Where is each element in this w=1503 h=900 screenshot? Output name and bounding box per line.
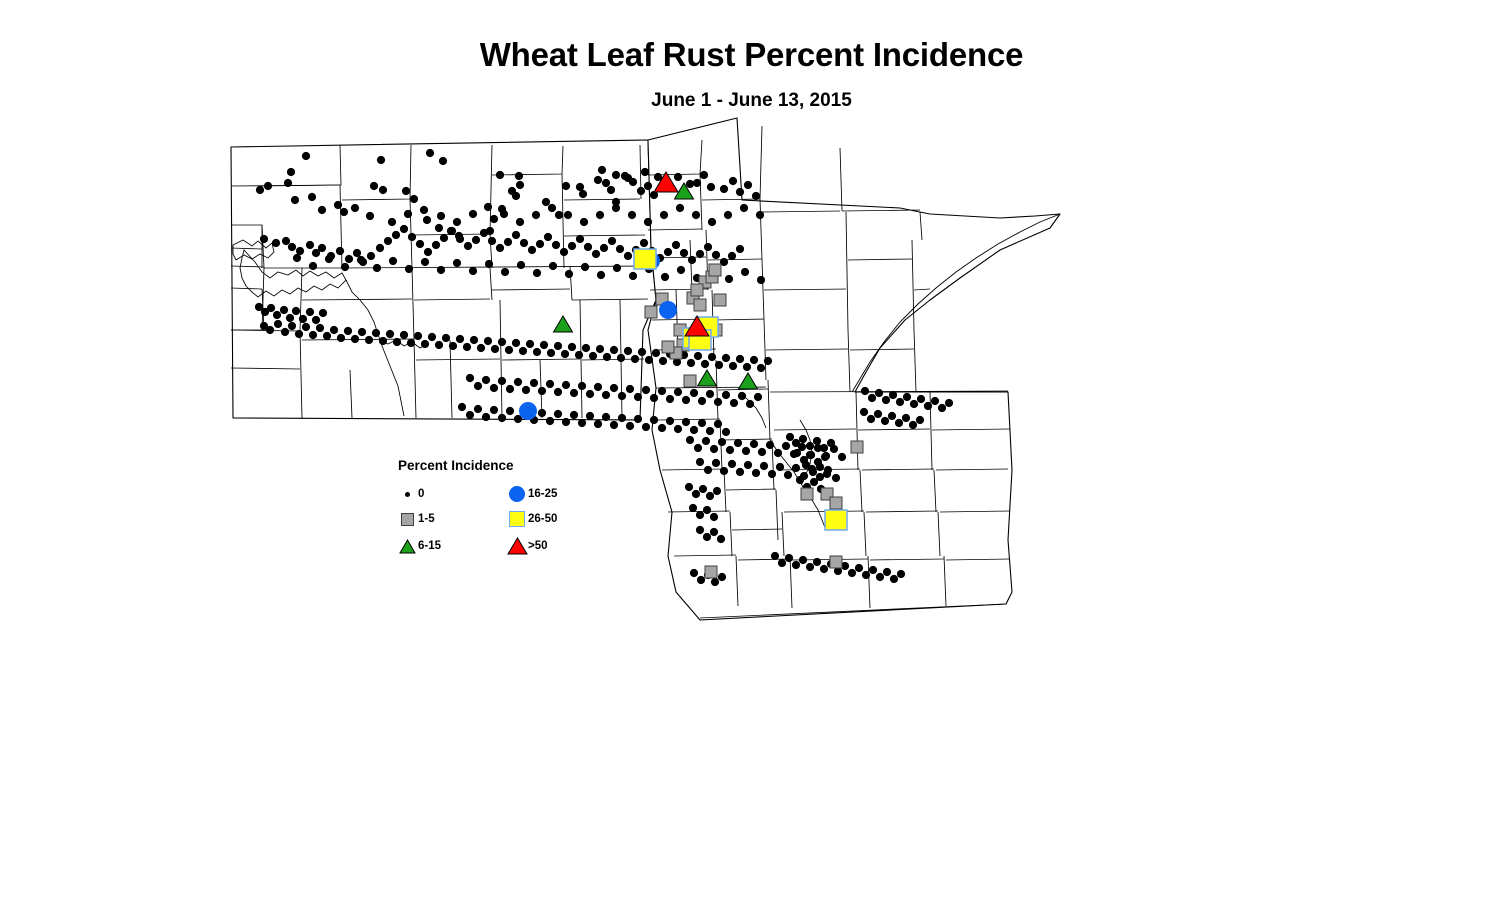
map-point-zero [540,341,548,349]
map-point-zero [722,391,730,399]
map-point-zero [302,152,310,160]
map-point-1-5 [691,284,703,296]
map-point-zero [713,487,721,495]
map-point-zero [720,467,728,475]
map-point-1-5 [684,375,696,387]
map-point-1-5 [801,488,813,500]
map-point-zero [776,463,784,471]
map-point-zero [357,256,365,264]
map-point-zero [515,172,523,180]
map-point-zero [318,244,326,252]
legend-item-0[interactable]: 0 [396,485,424,503]
map-point-zero [760,462,768,470]
map-point-zero [358,328,366,336]
map-point-zero [890,575,898,583]
gray-square-icon [396,513,418,526]
map-point-zero [782,442,790,450]
map-point-zero [323,332,331,340]
map-point-zero [618,392,626,400]
map-point-zero [708,353,716,361]
map-point-zero [568,242,576,250]
map-point-zero [516,218,524,226]
map-point-zero [729,177,737,185]
map-point-zero [696,511,704,519]
map-point-zero [629,272,637,280]
map-point-zero [692,490,700,498]
map-point-zero [581,263,589,271]
map-point-zero [734,439,742,447]
map-point-zero [689,504,697,512]
map-point-zero [821,453,829,461]
map-point-zero [658,387,666,395]
map-point-zero [682,396,690,404]
map-point-zero [766,441,774,449]
legend-label-6-15: 6-15 [418,540,441,552]
map-point-zero [861,387,869,395]
map-point-zero [575,351,583,359]
map-point-zero [484,203,492,211]
map-point-zero [469,210,477,218]
map-point-zero [548,204,556,212]
map-point-zero [931,397,939,405]
map-point-zero [336,247,344,255]
map-point-zero [506,407,514,415]
map-point-zero [754,393,762,401]
map-point-zero [882,396,890,404]
map-point-zero [420,206,428,214]
map-point-zero [578,419,586,427]
map-point-zero [610,384,618,392]
map-point-zero [903,393,911,401]
map-point-zero [392,231,400,239]
map-point-zero [561,350,569,358]
map-point-zero [738,392,746,400]
map-point-zero [490,215,498,223]
map-point-zero [344,327,352,335]
map-point-zero [714,420,722,428]
map-point-zero [764,357,772,365]
map-point-zero [330,326,338,334]
map-point-zero [686,180,694,188]
map-point-zero [600,244,608,252]
map-point-zero [687,359,695,367]
map-point-zero [570,411,578,419]
map-point-1-5 [851,441,863,453]
map-point-zero [589,352,597,360]
map-point-zero [862,571,870,579]
map-point-zero [855,564,863,572]
map-point-zero [580,218,588,226]
map-point-zero [706,390,714,398]
map-point-zero [594,420,602,428]
map-point-zero [325,255,333,263]
map-point-zero [602,391,610,399]
legend-label-over-50: >50 [528,540,548,552]
map-point-zero [697,576,705,584]
map-point-zero [405,265,413,273]
map-point-zero [474,405,482,413]
map-point-zero [256,186,264,194]
map-point-zero [379,186,387,194]
map-point-zero [784,471,792,479]
small-black-dot-icon [396,492,418,497]
map-point-zero [530,379,538,387]
map-point-zero [372,329,380,337]
map-point-zero [896,398,904,406]
map-point-zero [652,349,660,357]
map-point-zero [491,345,499,353]
map-point-zero [448,227,456,235]
map-point-zero [889,391,897,399]
map-point-zero [284,179,292,187]
map-point-zero [432,241,440,249]
map-point-zero [883,568,891,576]
map-point-zero [576,235,584,243]
map-canvas [0,0,1503,900]
map-point-zero [726,446,734,454]
green-triangle-icon [396,539,418,554]
map-point-zero [594,383,602,391]
map-point-zero [488,237,496,245]
map-point-zero [365,336,373,344]
map-point-zero [500,210,508,218]
map-point-1-5 [705,566,717,578]
legend-label-0: 0 [418,488,424,500]
map-point-zero [596,211,604,219]
map-point-zero [838,453,846,461]
map-point-zero [570,389,578,397]
map-point-zero [408,233,416,241]
map-point-zero [594,176,602,184]
map-point-1-5 [662,341,674,353]
map-point-zero [280,306,288,314]
map-point-zero [917,395,925,403]
legend-item-26-50[interactable]: 26-50 [506,510,557,528]
map-point-zero [353,249,361,257]
map-point-zero [750,356,758,364]
map-point-zero [351,335,359,343]
map-point-zero [660,211,668,219]
state-outlines [231,118,1060,620]
map-point-zero [658,424,666,432]
map-point-zero [366,212,374,220]
map-point-zero [287,168,295,176]
map-point-1-5 [714,294,726,306]
map-point-zero [741,268,749,276]
map-point-zero [608,237,616,245]
map-point-zero [938,404,946,412]
map-point-zero [730,399,738,407]
map-point-zero [442,334,450,342]
map-point-zero [704,243,712,251]
map-point-zero [698,397,706,405]
map-point-zero [334,201,342,209]
map-point-zero [736,245,744,253]
map-point-zero [435,224,443,232]
map-point-zero [710,513,718,521]
legend-label-1-5: 1-5 [418,513,435,525]
map-point-zero [703,506,711,514]
map-point-zero [710,528,718,536]
map-point-zero [674,173,682,181]
map-point-zero [274,320,282,328]
map-point-zero [744,461,752,469]
map-point-zero [273,311,281,319]
map-point-zero [309,331,317,339]
map-point-zero [645,356,653,364]
map-point-zero [624,252,632,260]
map-point-zero [426,149,434,157]
map-point-zero [612,204,620,212]
map-point-zero [696,526,704,534]
map-point-zero [288,243,296,251]
map-point-zero [868,394,876,402]
map-point-zero [740,204,748,212]
map-point-zero [810,478,818,486]
map-point-zero [466,374,474,382]
map-point-zero [533,348,541,356]
map-point-zero [724,211,732,219]
map-point-zero [744,181,752,189]
map-point-zero [728,252,736,260]
map-point-zero [386,330,394,338]
map-point-zero [565,270,573,278]
map-point-zero [758,448,766,456]
map-point-zero [437,212,445,220]
legend-item-over-50[interactable]: >50 [506,537,548,555]
map-point-zero [456,335,464,343]
map-point-zero [586,390,594,398]
map-point-zero [384,237,392,245]
map-point-zero [562,418,570,426]
map-point-zero [693,179,701,187]
map-point-zero [316,324,324,332]
map-point-zero [516,181,524,189]
map-point-zero [602,179,610,187]
map-point-zero [377,156,385,164]
map-point-zero [672,241,680,249]
map-point-zero [832,474,840,482]
map-point-zero [634,415,642,423]
map-point-zero [345,255,353,263]
map-point-zero [469,267,477,275]
map-point-zero [728,460,736,468]
map-point-zero [498,414,506,422]
map-point-zero [778,559,786,567]
map-point-zero [768,470,776,478]
map-point-zero [456,235,464,243]
map-point-zero [402,187,410,195]
map-point-zero [554,410,562,418]
map-point-zero [688,256,696,264]
map-point-zero [453,259,461,267]
map-point-zero [302,323,310,331]
map-point-zero [644,218,652,226]
map-point-zero [453,218,461,226]
map-point-zero [909,421,917,429]
map-point-zero [712,459,720,467]
map-point-zero [722,428,730,436]
map-point-zero [340,208,348,216]
map-point-zero [526,340,534,348]
map-point-zero [750,440,758,448]
map-point-zero [876,573,884,581]
map-point-zero [752,469,760,477]
map-point-zero [596,345,604,353]
legend-item-16-25[interactable]: 16-25 [506,485,557,503]
map-point-zero [351,204,359,212]
map-point-zero [522,386,530,394]
map-point-zero [792,561,800,569]
map-point-zero [512,339,520,347]
map-point-zero [306,308,314,316]
map-point-zero [482,413,490,421]
map-point-zero [642,386,650,394]
map-point-zero [674,425,682,433]
map-point-zero [617,354,625,362]
map-point-zero [435,341,443,349]
map-point-zero [682,418,690,426]
map-point-zero [685,483,693,491]
map-point-zero [875,389,883,397]
map-point-zero [424,248,432,256]
map-point-zero [642,423,650,431]
map-point-zero [528,246,536,254]
map-point-zero [260,235,268,243]
map-point-zero [306,241,314,249]
map-point-zero [281,328,289,336]
map-point-zero [736,355,744,363]
map-point-zero [484,337,492,345]
map-point-zero [416,240,424,248]
map-point-zero [370,182,378,190]
map-point-zero [586,412,594,420]
map-point-zero [813,558,821,566]
map-point-zero [860,408,868,416]
map-point-zero [650,394,658,402]
map-point-zero [628,211,636,219]
map-point-zero [549,262,557,270]
map-point-zero [624,347,632,355]
map-point-16-25 [659,301,677,319]
map-point-zero [699,485,707,493]
map-point-zero [400,225,408,233]
map-point-zero [746,400,754,408]
map-point-zero [389,257,397,265]
map-point-zero [512,231,520,239]
map-point-zero [554,388,562,396]
map-point-zero [496,244,504,252]
map-point-zero [820,444,828,452]
map-point-zero [640,239,648,247]
map-point-zero [466,411,474,419]
map-point-zero [439,157,447,165]
map-point-zero [490,384,498,392]
map-point-zero [610,346,618,354]
map-point-zero [341,263,349,271]
map-point-zero [295,330,303,338]
map-point-zero [869,566,877,574]
legend-item-6-15[interactable]: 6-15 [396,537,441,555]
map-point-zero [706,427,714,435]
map-point-zero [292,307,300,315]
map-point-zero [519,347,527,355]
map-point-zero [505,346,513,354]
map-point-zero [538,387,546,395]
map-point-zero [517,261,525,269]
map-point-zero [752,192,760,200]
map-point-26-50 [825,510,847,530]
map-point-zero [888,412,896,420]
map-point-zero [644,182,652,190]
map-point-zero [661,273,669,281]
blue-circle-icon [506,486,528,502]
map-point-zero [867,415,875,423]
map-point-zero [613,264,621,272]
map-point-zero [799,435,807,443]
map-point-zero [806,442,814,450]
map-point-zero [902,414,910,422]
map-point-zero [757,364,765,372]
map-point-zero [881,417,889,425]
map-point-zero [498,338,506,346]
map-point-zero [680,249,688,257]
map-point-zero [597,271,605,279]
map-point-zero [267,304,275,312]
map-point-zero [337,334,345,342]
map-point-zero [428,333,436,341]
map-point-zero [423,216,431,224]
map-point-zero [666,417,674,425]
map-point-zero [945,399,953,407]
map-point-zero [696,250,704,258]
map-point-zero [690,389,698,397]
map-point-zero [496,171,504,179]
map-point-zero [720,185,728,193]
map-point-zero [616,245,624,253]
legend-label-26-50: 26-50 [528,513,557,525]
map-point-zero [309,262,317,270]
map-point-zero [729,362,737,370]
map-point-zero [626,422,634,430]
map-point-zero [421,340,429,348]
map-point-zero [388,218,396,226]
map-point-zero [568,343,576,351]
map-point-zero [707,183,715,191]
map-point-zero [690,569,698,577]
yellow-square-icon [506,511,528,527]
map-point-zero [603,353,611,361]
map-point-zero [501,268,509,276]
map-point-zero [440,234,448,242]
map-point-zero [592,250,600,258]
map-point-zero [641,168,649,176]
map-point-zero [470,336,478,344]
map-point-zero [916,416,924,424]
map-point-zero [598,166,606,174]
map-point-zero [480,229,488,237]
map-point-zero [554,342,562,350]
map-point-zero [272,239,280,247]
legend-item-1-5[interactable]: 1-5 [396,510,435,528]
map-point-zero [714,398,722,406]
map-point-zero [264,182,272,190]
map-point-zero [579,190,587,198]
map-point-zero [449,342,457,350]
map-point-zero [664,248,672,256]
map-point-zero [792,439,800,447]
map-point-zero [827,439,835,447]
